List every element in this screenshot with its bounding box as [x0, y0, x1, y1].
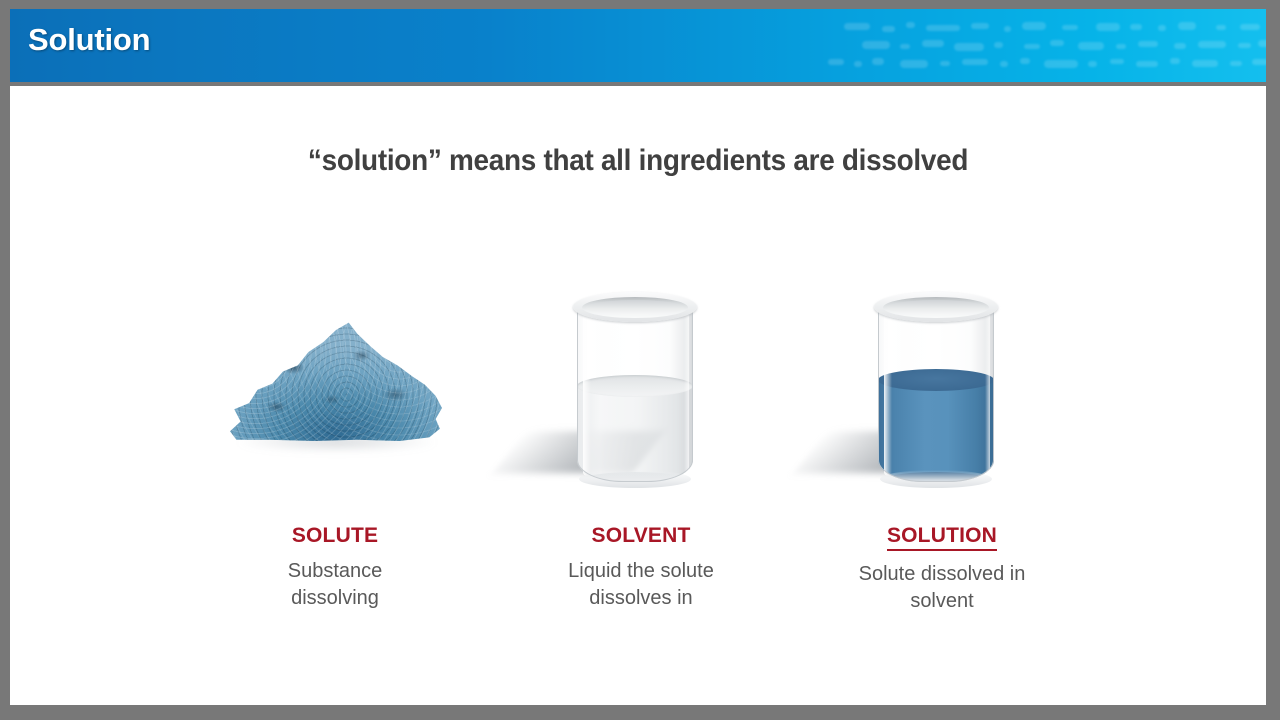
glass-base	[880, 470, 992, 488]
dash-mark	[1252, 59, 1266, 65]
caption-line-1: Substance	[185, 558, 485, 585]
dash-mark	[1110, 59, 1124, 64]
dash-mark	[1174, 43, 1186, 49]
dash-mark	[922, 40, 944, 47]
beaker-rim-inner-deep	[887, 300, 985, 315]
beaker-glass	[874, 292, 998, 488]
caption-description-solvent: Liquid the solute dissolves in	[491, 558, 791, 611]
dash-mark	[1000, 61, 1008, 67]
slide-frame: Solution “solution” means that all ingre…	[0, 0, 1280, 720]
beaker-rim-inner-deep	[586, 300, 684, 315]
dash-mark	[872, 58, 884, 65]
caption-title-solute: SOLUTE	[292, 524, 378, 548]
liquid-body	[878, 380, 994, 482]
caption-line-2: dissolving	[185, 585, 485, 612]
dash-mark	[1024, 44, 1040, 49]
beaker-with-blue-liquid-icon	[792, 286, 1092, 511]
caption-description-solute: Substance dissolving	[185, 558, 485, 611]
dash-mark	[1170, 58, 1180, 64]
dash-mark	[1044, 60, 1078, 68]
page-title: Solution	[28, 22, 150, 58]
dash-mark	[1078, 42, 1104, 50]
dash-mark	[828, 59, 844, 65]
beaker-body	[878, 306, 994, 482]
liquid-clear	[577, 386, 693, 482]
solute-figure	[185, 286, 485, 511]
dash-mark	[1062, 25, 1078, 30]
dash-mark	[940, 61, 950, 66]
dash-mark	[962, 59, 988, 65]
dash-mark	[854, 61, 862, 67]
glass-highlight-right	[985, 314, 990, 472]
dash-mark	[994, 42, 1003, 48]
dash-mark	[971, 23, 989, 29]
dash-mark	[1238, 43, 1251, 48]
caption-line-1: Solute dissolved in	[792, 561, 1092, 588]
headline-text: “solution” means that all ingredients ar…	[54, 144, 1222, 178]
beaker-glass	[573, 292, 697, 488]
dash-mark	[906, 22, 915, 28]
dash-mark	[1096, 23, 1120, 31]
slide-title-bar: Solution	[10, 9, 1266, 82]
dash-mark	[1216, 25, 1226, 30]
dashes-pattern-icon	[796, 9, 1266, 82]
solute-caption: SOLUTE Substance dissolving	[185, 524, 485, 611]
concept-column-solution: SOLUTION Solute dissolved in solvent	[792, 286, 1092, 666]
liquid-surface	[878, 369, 994, 391]
dash-mark	[1116, 44, 1126, 49]
caption-line-2: dissolves in	[491, 585, 791, 612]
dash-mark	[862, 41, 890, 49]
dash-mark	[1158, 25, 1166, 31]
solution-figure	[792, 286, 1092, 511]
dash-mark	[1022, 22, 1046, 30]
dash-mark	[900, 44, 910, 49]
caption-line-1: Liquid the solute	[491, 558, 791, 585]
solution-caption: SOLUTION Solute dissolved in solvent	[792, 524, 1092, 614]
dash-mark	[1258, 40, 1266, 47]
dash-mark	[1198, 41, 1226, 48]
caption-description-solution: Solute dissolved in solvent	[792, 561, 1092, 614]
solvent-figure	[491, 286, 791, 511]
glass-base	[579, 470, 691, 488]
dash-mark	[1192, 60, 1218, 67]
liquid-blue-solution	[878, 380, 994, 482]
dash-mark	[1138, 41, 1158, 47]
dash-mark	[1050, 40, 1064, 46]
dash-mark	[1136, 61, 1158, 67]
dash-mark	[1004, 26, 1011, 32]
concept-columns: SOLUTE Substance dissolving	[10, 286, 1266, 666]
glass-highlight-right	[684, 314, 689, 472]
caption-line-2: solvent	[792, 588, 1092, 615]
glass-highlight-left	[583, 314, 591, 476]
dash-mark	[1240, 24, 1260, 30]
concept-column-solvent: SOLVENT Liquid the solute dissolves in	[491, 286, 791, 666]
dash-mark	[1230, 61, 1242, 66]
caption-title-solvent: SOLVENT	[591, 524, 690, 548]
slide-content-area: “solution” means that all ingredients ar…	[10, 86, 1266, 705]
concept-column-solute: SOLUTE Substance dissolving	[185, 286, 485, 666]
caption-title-solution: SOLUTION	[887, 524, 997, 551]
solvent-caption: SOLVENT Liquid the solute dissolves in	[491, 524, 791, 611]
beaker-body	[577, 306, 693, 482]
liquid-surface	[577, 375, 693, 397]
dash-mark	[844, 23, 870, 30]
dash-mark	[926, 25, 960, 31]
dash-mark	[954, 43, 984, 51]
dash-mark	[900, 60, 928, 68]
dash-mark	[1178, 22, 1196, 30]
dash-mark	[1130, 24, 1142, 30]
powder-mound	[230, 319, 442, 441]
dash-mark	[1020, 58, 1030, 64]
glass-highlight-left	[884, 314, 892, 476]
dash-mark	[1088, 61, 1097, 67]
blue-powder-pile-icon	[185, 286, 485, 511]
dash-mark	[882, 26, 895, 32]
beaker-with-clear-liquid-icon	[491, 286, 791, 511]
liquid-body	[577, 386, 693, 482]
